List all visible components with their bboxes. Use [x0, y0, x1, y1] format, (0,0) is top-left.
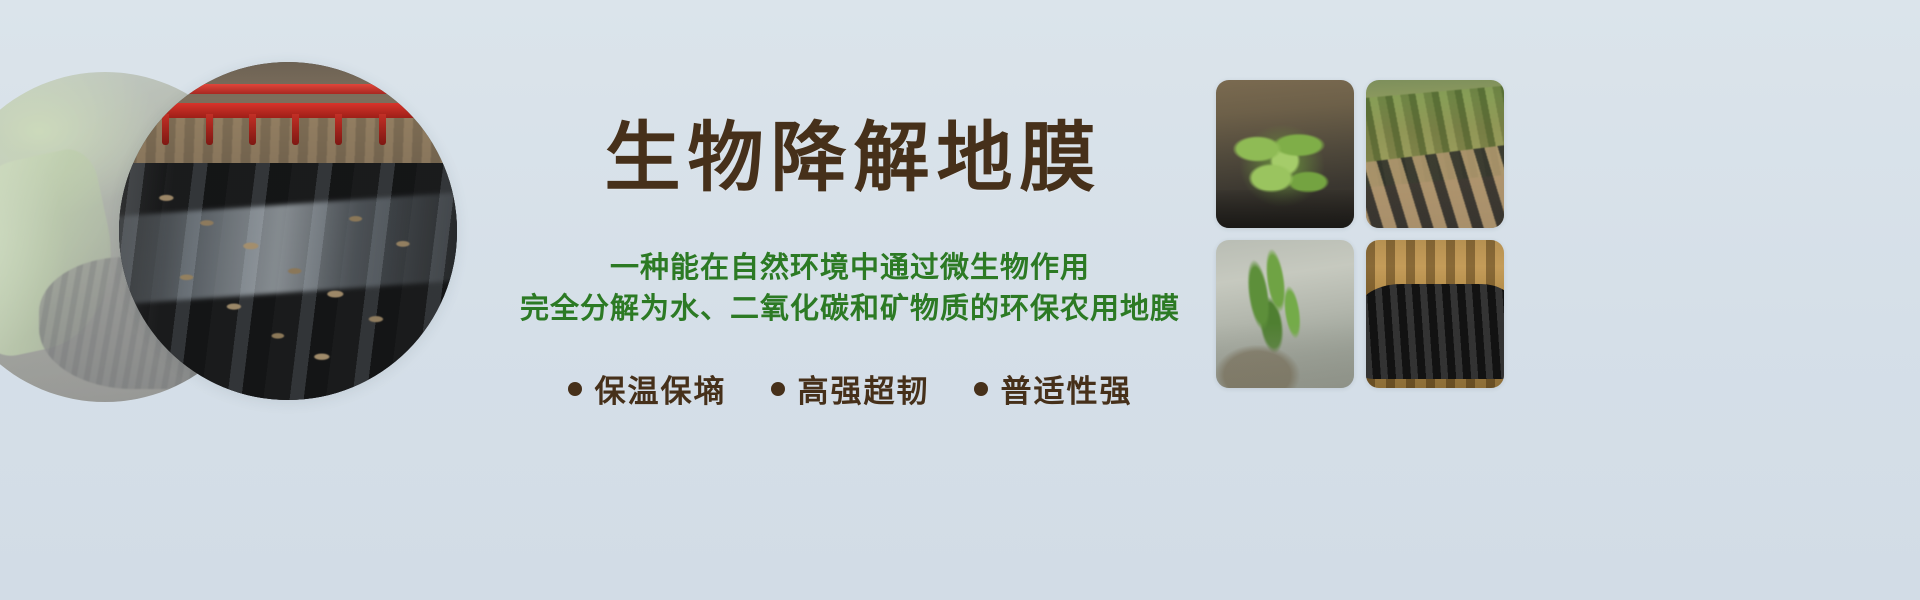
red-farm-machinery: [146, 72, 416, 140]
machinery-upper-bar: [162, 84, 400, 94]
subtitle-line-2: 完全分解为水、二氧化碳和矿物质的环保农用地膜: [520, 289, 1180, 330]
banner-text-block: 生物降解地膜 一种能在自然环境中通过微生物作用 完全分解为水、二氧化碳和矿物质的…: [470, 0, 1230, 600]
feature-label: 普适性强: [1001, 366, 1133, 411]
mulch-film-image: [119, 62, 457, 400]
feature-item-strength: 高强超韧: [771, 366, 930, 411]
machinery-tine: [292, 114, 299, 145]
mulch-film-machinery-circle-photo: [119, 62, 457, 400]
feature-label: 保温保墒: [595, 366, 727, 411]
right-photo-grid: [1216, 80, 1504, 400]
banner-title: 生物降解地膜: [598, 120, 1103, 200]
feature-item-versatility: 普适性强: [974, 366, 1133, 411]
soil-clods: [119, 177, 457, 387]
subtitle-line-1: 一种能在自然环境中通过微生物作用: [520, 248, 1180, 289]
feature-item-insulation: 保温保墒: [568, 366, 727, 411]
machinery-tine: [206, 114, 213, 145]
tobacco-on-black-mulch-photo: [1216, 80, 1354, 228]
machinery-main-bar: [146, 103, 416, 118]
banner-subtitle: 一种能在自然环境中通过微生物作用 完全分解为水、二氧化碳和矿物质的环保农用地膜: [520, 248, 1180, 330]
promo-banner: 生物降解地膜 一种能在自然环境中通过微生物作用 完全分解为水、二氧化碳和矿物质的…: [0, 0, 1920, 600]
machinery-tine: [249, 114, 256, 145]
machinery-tine: [162, 114, 169, 145]
bullet-dot-icon: [771, 382, 785, 396]
corn-seedling-on-film-photo: [1216, 240, 1354, 388]
machinery-tine: [379, 114, 386, 145]
black-film-roll-on-wood-photo: [1366, 240, 1504, 388]
feature-label: 高强超韧: [798, 366, 930, 411]
bullet-dot-icon: [568, 382, 582, 396]
left-photo-cluster: [0, 0, 470, 600]
machinery-tine: [335, 114, 342, 145]
feature-list: 保温保墒 高强超韧 普适性强: [568, 366, 1133, 411]
field-rows-with-mulch-photo: [1366, 80, 1504, 228]
bullet-dot-icon: [974, 382, 988, 396]
